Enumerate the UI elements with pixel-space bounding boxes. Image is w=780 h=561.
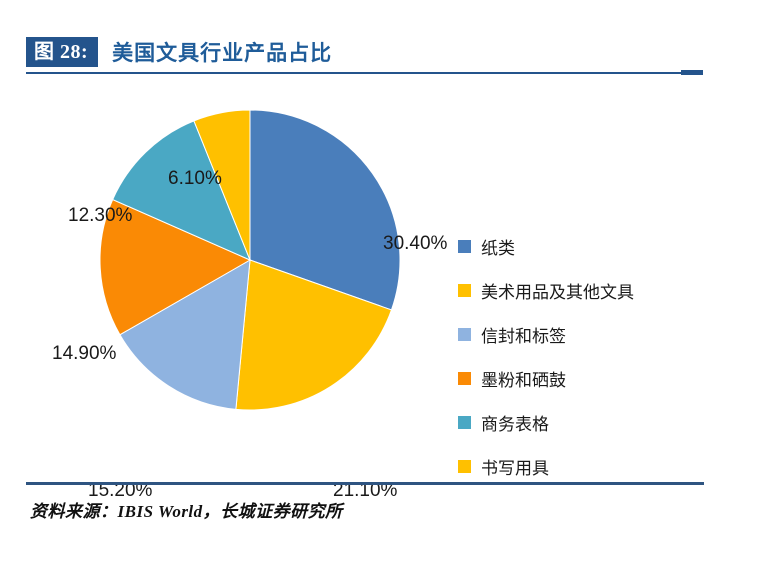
legend-item-label: 商务表格 xyxy=(481,410,549,435)
legend-swatch-icon xyxy=(458,284,471,297)
title-divider-end-cap xyxy=(681,70,703,75)
legend-item-label: 信封和标签 xyxy=(481,322,566,347)
legend-item-paper[interactable]: 纸类 xyxy=(458,236,688,257)
legend-swatch-icon xyxy=(458,328,471,341)
pie-slice-group xyxy=(100,110,400,410)
title-divider xyxy=(26,72,686,74)
legend-swatch-icon xyxy=(458,372,471,385)
legend-item-label: 美术用品及其他文具 xyxy=(481,278,634,303)
figure-panel: 图 28: 美国文具行业产品占比 30.40% 21.10% 15.20% 14… xyxy=(0,0,780,561)
legend-swatch-icon xyxy=(458,240,471,253)
page-title: 美国文具行业产品占比 xyxy=(112,37,332,67)
pie-value-label-paper: 30.40% xyxy=(383,233,447,255)
legend-item-writing[interactable]: 书写用具 xyxy=(458,456,688,477)
pie-value-label-forms: 12.30% xyxy=(68,205,132,227)
source-note: 资料来源：IBIS World，长城证券研究所 xyxy=(30,497,343,522)
legend-swatch-icon xyxy=(458,460,471,473)
footer-divider xyxy=(26,482,704,485)
pie-chart-svg xyxy=(90,100,410,420)
figure-header: 图 28: 美国文具行业产品占比 xyxy=(26,36,332,68)
chart-legend: 纸类 美术用品及其他文具 信封和标签 墨粉和硒鼓 商务表格 书写用具 xyxy=(458,236,688,500)
legend-item-label: 纸类 xyxy=(481,234,515,259)
legend-item-toner[interactable]: 墨粉和硒鼓 xyxy=(458,368,688,389)
legend-item-forms[interactable]: 商务表格 xyxy=(458,412,688,433)
legend-item-envelope[interactable]: 信封和标签 xyxy=(458,324,688,345)
legend-swatch-icon xyxy=(458,416,471,429)
legend-item-label: 书写用具 xyxy=(481,454,549,479)
legend-item-art[interactable]: 美术用品及其他文具 xyxy=(458,280,688,301)
pie-chart: 30.40% 21.10% 15.20% 14.90% 12.30% 6.10%… xyxy=(0,80,780,450)
pie-value-label-toner: 14.90% xyxy=(52,343,116,365)
legend-item-label: 墨粉和硒鼓 xyxy=(481,366,566,391)
pie-value-label-writing: 6.10% xyxy=(168,168,222,190)
figure-number-badge: 图 28: xyxy=(26,37,98,67)
